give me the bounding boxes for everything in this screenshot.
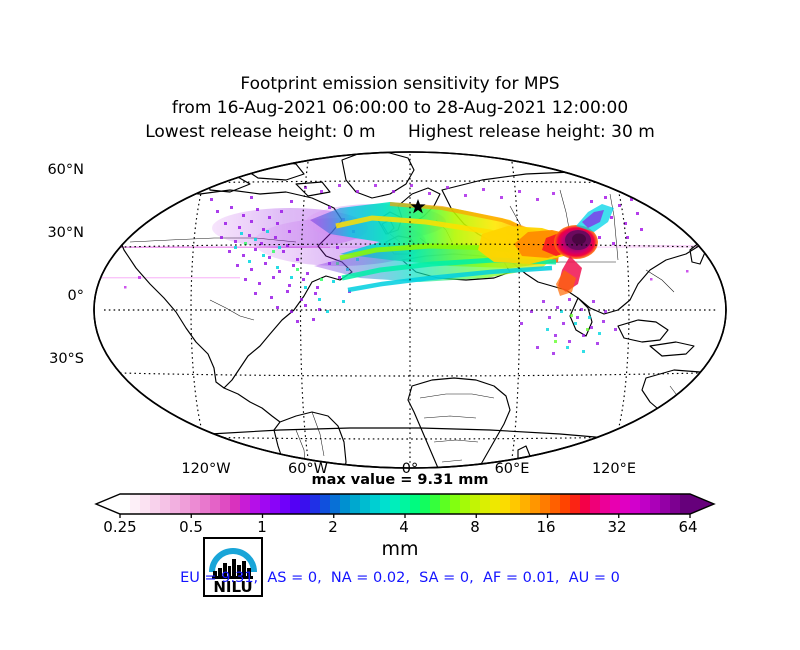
- colorbar-graphic[interactable]: [90, 490, 720, 518]
- lat-tick-60n: 60°N: [18, 162, 84, 178]
- colorbar-segment: [410, 494, 421, 514]
- colorbar-segment: [470, 494, 481, 514]
- colorbar-segment: [590, 494, 601, 514]
- map-panel[interactable]: 60°N 30°N 0° 30°S 120°W 60°W 0° 60°E 120…: [90, 150, 730, 470]
- max-value-label: max value = 9.31 mm: [0, 472, 800, 488]
- cbar-tick-4: 4: [374, 518, 434, 536]
- colorbar-segment: [200, 494, 211, 514]
- colorbar-segment: [460, 494, 471, 514]
- colorbar-segment: [490, 494, 501, 514]
- colorbar-segment: [480, 494, 491, 514]
- colorbar-under-cap: [96, 494, 120, 514]
- colorbar-segment: [390, 494, 401, 514]
- colorbar-segment: [360, 494, 371, 514]
- lat-tick-30n: 30°N: [18, 225, 84, 241]
- colorbar-segment: [380, 494, 391, 514]
- colorbar-segment: [430, 494, 441, 514]
- colorbar[interactable]: [90, 490, 720, 518]
- colorbar-segment: [450, 494, 461, 514]
- colorbar-segment: [400, 494, 411, 514]
- colorbar-segment: [540, 494, 551, 514]
- title-release-heights: Lowest release height: 0 m Highest relea…: [0, 120, 800, 144]
- colorbar-segment: [250, 494, 261, 514]
- cbar-tick-3: 2: [303, 518, 363, 536]
- colorbar-tick-labels: 0.25 0.5 1 2 4 8 16 32 64: [0, 518, 800, 540]
- colorbar-segment: [150, 494, 161, 514]
- colorbar-segment: [290, 494, 301, 514]
- colorbar-segment: [220, 494, 231, 514]
- colorbar-segment: [330, 494, 341, 514]
- colorbar-segment: [170, 494, 181, 514]
- title-time-range: from 16-Aug-2021 06:00:00 to 28-Aug-2021…: [0, 96, 800, 120]
- colorbar-segment: [130, 494, 141, 514]
- colorbar-segment: [180, 494, 191, 514]
- cbar-tick-8: 64: [658, 518, 718, 536]
- colorbar-segment: [620, 494, 631, 514]
- cbar-tick-5: 8: [445, 518, 505, 536]
- cbar-tick-1: 0.5: [161, 518, 221, 536]
- colorbar-segment: [370, 494, 381, 514]
- colorbar-segment: [420, 494, 431, 514]
- colorbar-segment: [630, 494, 641, 514]
- figure-title-block: Footprint emission sensitivity for MPS f…: [0, 72, 800, 144]
- colorbar-over-cap: [690, 494, 714, 514]
- colorbar-segment: [660, 494, 671, 514]
- colorbar-segment: [260, 494, 271, 514]
- cbar-tick-0: 0.25: [90, 518, 150, 536]
- colorbar-segment: [350, 494, 361, 514]
- colorbar-segment: [560, 494, 571, 514]
- cbar-tick-7: 32: [587, 518, 647, 536]
- colorbar-segment: [240, 494, 251, 514]
- colorbar-segment: [340, 494, 351, 514]
- lat-tick-0: 0°: [18, 288, 84, 304]
- region-totals-line: EU = 9.31, AS = 0, NA = 0.02, SA = 0, AF…: [0, 570, 800, 586]
- colorbar-segment: [650, 494, 661, 514]
- colorbar-segment: [510, 494, 521, 514]
- colorbar-segment: [300, 494, 311, 514]
- colorbar-segment: [570, 494, 581, 514]
- colorbar-segment: [530, 494, 541, 514]
- colorbar-segment: [320, 494, 331, 514]
- colorbar-segment: [120, 494, 131, 514]
- colorbar-segment: [190, 494, 201, 514]
- page-title: Footprint emission sensitivity for MPS: [0, 72, 800, 96]
- lat-tick-30s: 30°S: [18, 351, 84, 367]
- colorbar-segment: [440, 494, 451, 514]
- colorbar-segment: [230, 494, 241, 514]
- colorbar-segment: [140, 494, 151, 514]
- colorbar-segment: [640, 494, 651, 514]
- colorbar-segment: [680, 494, 691, 514]
- colorbar-segment: [580, 494, 591, 514]
- colorbar-segment: [610, 494, 621, 514]
- world-map[interactable]: [90, 150, 730, 470]
- colorbar-segment: [600, 494, 611, 514]
- cbar-tick-6: 16: [516, 518, 576, 536]
- colorbar-segment: [520, 494, 531, 514]
- colorbar-segment: [310, 494, 321, 514]
- colorbar-segment: [280, 494, 291, 514]
- colorbar-segment: [670, 494, 681, 514]
- colorbar-segment: [500, 494, 511, 514]
- colorbar-segment: [270, 494, 281, 514]
- cbar-tick-2: 1: [232, 518, 292, 536]
- colorbar-segments: [96, 494, 714, 514]
- colorbar-segment: [210, 494, 221, 514]
- colorbar-segment: [160, 494, 171, 514]
- colorbar-unit-label: mm: [0, 538, 800, 560]
- colorbar-segment: [550, 494, 561, 514]
